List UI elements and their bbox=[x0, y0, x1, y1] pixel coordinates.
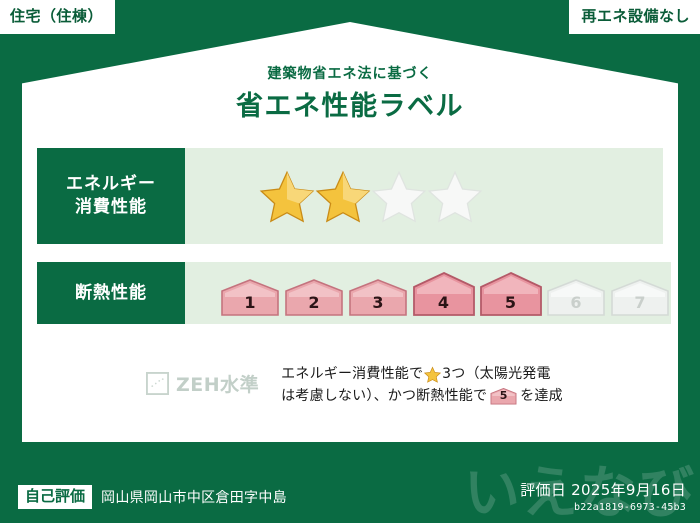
zeh-standard-description: エネルギー消費性能で 3つ（太陽光発電 は考慮しない）、かつ断熱性能で 5 を達… bbox=[281, 364, 563, 407]
insulation-step-4-value: 4 bbox=[411, 293, 476, 312]
insulation-step-1-value: 1 bbox=[219, 293, 281, 312]
insulation-performance-row: 断熱性能 1 2 bbox=[37, 262, 663, 324]
star-icon bbox=[315, 169, 371, 223]
insulation-step-5-value: 5 bbox=[478, 293, 543, 312]
insulation-performance-value: 1 2 3 bbox=[185, 262, 671, 324]
insulation-level-inline-value: 5 bbox=[490, 387, 517, 404]
star-icon bbox=[424, 366, 441, 383]
star-icon bbox=[427, 169, 483, 223]
renewable-equipment-tag: 再エネ設備なし bbox=[569, 0, 700, 34]
zeh-desc-line1-after: 3つ（太陽光発電 bbox=[442, 364, 551, 386]
energy-consumption-label-line2: 消費性能 bbox=[75, 196, 147, 219]
insulation-step-scale: 1 2 3 bbox=[219, 270, 671, 317]
footer-right: 評価日 2025年9月16日 b22a1819-6973-45b3 bbox=[520, 479, 686, 513]
energy-consumption-value bbox=[185, 148, 663, 244]
zeh-standard-block: ZEH水準 エネルギー消費性能で 3つ（太陽光発電 は考慮しない）、かつ断熱性能… bbox=[146, 364, 563, 407]
insulation-step-6-value: 6 bbox=[545, 293, 607, 312]
zeh-standard-label: ZEH水準 bbox=[176, 370, 259, 397]
energy-consumption-label-line1: エネルギー bbox=[66, 173, 156, 196]
insulation-step-7-value: 7 bbox=[609, 293, 671, 312]
star-icon bbox=[259, 169, 315, 223]
energy-performance-label: いえなび 住宅（住棟） 再エネ設備なし 建築物省エネ法に基づく 省エネ性能ラベル… bbox=[0, 0, 700, 523]
evaluation-id: b22a1819-6973-45b3 bbox=[520, 502, 686, 513]
evaluation-type-badge: 自己評価 bbox=[18, 485, 92, 509]
page-title: 省エネ性能ラベル bbox=[0, 84, 700, 123]
insulation-step-3: 3 bbox=[347, 277, 409, 317]
insulation-step-3-value: 3 bbox=[347, 293, 409, 312]
empty-checkbox-icon bbox=[146, 372, 169, 395]
property-address: 岡山県岡山市中区倉田字中島 bbox=[101, 487, 287, 507]
insulation-step-1: 1 bbox=[219, 277, 281, 317]
star-icon bbox=[371, 169, 427, 223]
label-subtitle: 建築物省エネ法に基づく bbox=[0, 63, 700, 83]
zeh-desc-line2-after: を達成 bbox=[520, 386, 563, 408]
zeh-description-line-2: は考慮しない）、かつ断熱性能で 5 を達成 bbox=[281, 386, 563, 408]
evaluation-date: 評価日 2025年9月16日 bbox=[520, 479, 686, 500]
star-rating bbox=[259, 169, 483, 223]
insulation-level-inline-badge: 5 bbox=[490, 388, 517, 405]
insulation-step-6: 6 bbox=[545, 277, 607, 317]
insulation-step-2-value: 2 bbox=[283, 293, 345, 312]
building-type-tag: 住宅（住棟） bbox=[0, 0, 115, 34]
zeh-standard-badge: ZEH水準 bbox=[146, 364, 259, 397]
insulation-step-5: 5 bbox=[478, 270, 543, 317]
energy-consumption-label: エネルギー 消費性能 bbox=[37, 148, 185, 244]
zeh-desc-line2-before: は考慮しない）、かつ断熱性能で bbox=[281, 386, 487, 408]
insulation-step-4: 4 bbox=[411, 270, 476, 317]
energy-consumption-row: エネルギー 消費性能 bbox=[37, 148, 663, 244]
zeh-desc-line1-before: エネルギー消費性能で bbox=[281, 364, 423, 386]
insulation-step-7: 7 bbox=[609, 277, 671, 317]
insulation-step-2: 2 bbox=[283, 277, 345, 317]
insulation-performance-label: 断熱性能 bbox=[37, 262, 185, 324]
footer-left: 自己評価 岡山県岡山市中区倉田字中島 bbox=[18, 485, 287, 509]
zeh-description-line-1: エネルギー消費性能で 3つ（太陽光発電 bbox=[281, 364, 563, 386]
insulation-performance-label-line1: 断熱性能 bbox=[75, 282, 147, 305]
